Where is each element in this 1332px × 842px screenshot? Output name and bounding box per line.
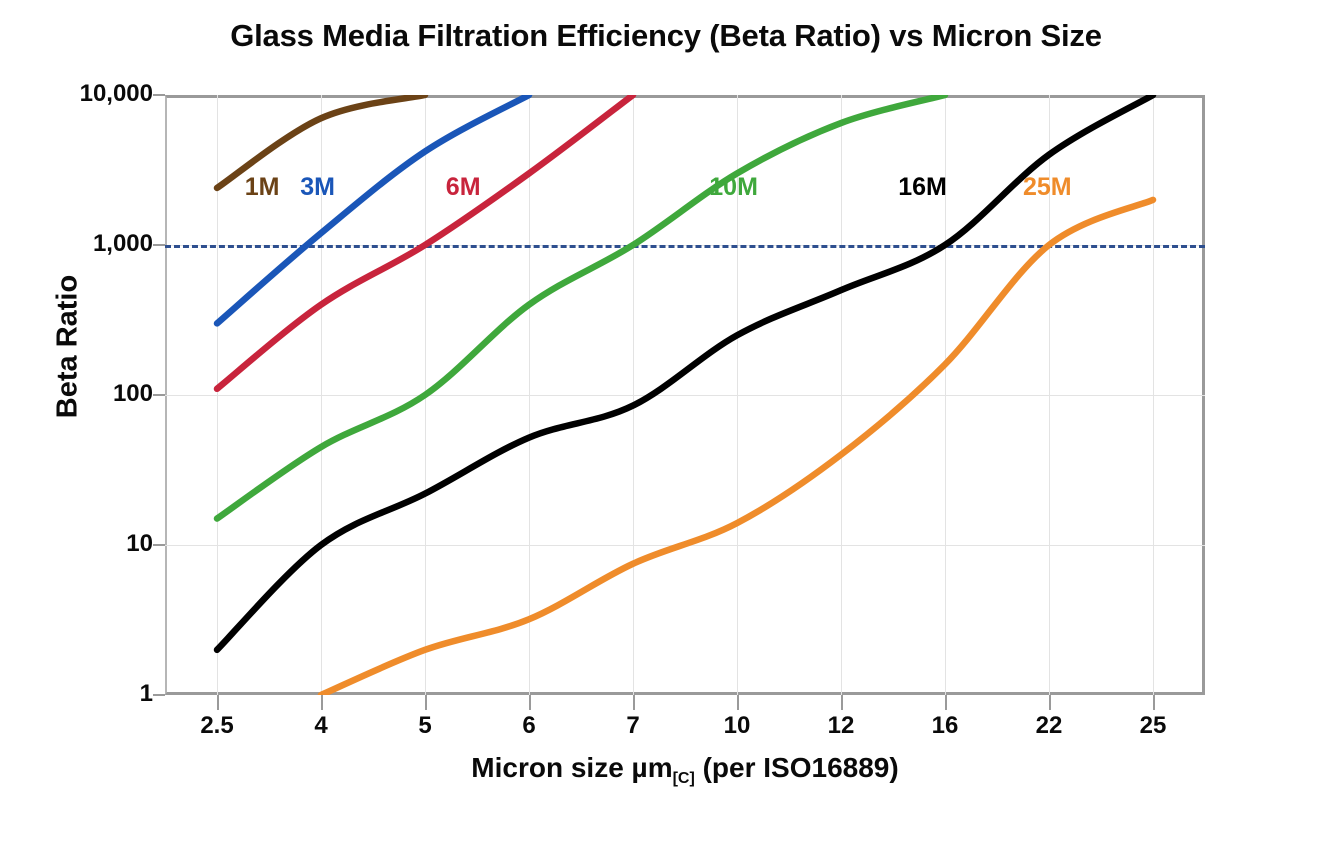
y-tick-label: 10 — [13, 530, 153, 558]
x-axis-title: Micron size µm[C] (per ISO16889) — [165, 752, 1205, 784]
y-tick-mark — [153, 244, 165, 246]
series-label-10m: 10M — [709, 173, 758, 202]
x-tick-mark — [529, 695, 531, 710]
series-label-16m: 16M — [898, 173, 947, 202]
y-tick-label: 1 — [13, 680, 153, 708]
x-tick-label: 6 — [484, 712, 574, 740]
series-line-25m — [321, 200, 1153, 695]
x-tick-label: 25 — [1108, 712, 1198, 740]
x-tick-label: 22 — [1004, 712, 1094, 740]
chart-root: Glass Media Filtration Efficiency (Beta … — [0, 0, 1332, 842]
x-tick-mark — [217, 695, 219, 710]
x-tick-mark — [841, 695, 843, 710]
series-line-16m — [217, 95, 1153, 650]
x-tick-mark — [321, 695, 323, 710]
series-label-25m: 25M — [1023, 173, 1072, 202]
x-axis-title-tail: (per ISO16889) — [695, 752, 899, 783]
chart-title: Glass Media Filtration Efficiency (Beta … — [0, 18, 1332, 54]
y-tick-label: 10,000 — [13, 80, 153, 108]
x-tick-mark — [945, 695, 947, 710]
series-label-1m: 1M — [245, 173, 280, 202]
x-tick-label: 2.5 — [172, 712, 262, 740]
x-tick-mark — [425, 695, 427, 710]
x-tick-label: 5 — [380, 712, 470, 740]
x-tick-label: 10 — [692, 712, 782, 740]
x-tick-label: 4 — [276, 712, 366, 740]
series-label-3m: 3M — [300, 173, 335, 202]
y-tick-label: 100 — [13, 380, 153, 408]
x-tick-label: 12 — [796, 712, 886, 740]
x-tick-mark — [737, 695, 739, 710]
x-tick-mark — [633, 695, 635, 710]
y-tick-mark — [153, 694, 165, 696]
x-tick-mark — [1049, 695, 1051, 710]
series-label-6m: 6M — [446, 173, 481, 202]
x-tick-label: 16 — [900, 712, 990, 740]
x-axis-title-subscript: [C] — [673, 770, 695, 787]
x-tick-label: 7 — [588, 712, 678, 740]
y-tick-mark — [153, 544, 165, 546]
x-tick-mark — [1153, 695, 1155, 710]
x-axis-title-main: Micron size µm — [471, 752, 672, 783]
y-tick-mark — [153, 94, 165, 96]
y-tick-mark — [153, 394, 165, 396]
y-tick-label: 1,000 — [13, 230, 153, 258]
